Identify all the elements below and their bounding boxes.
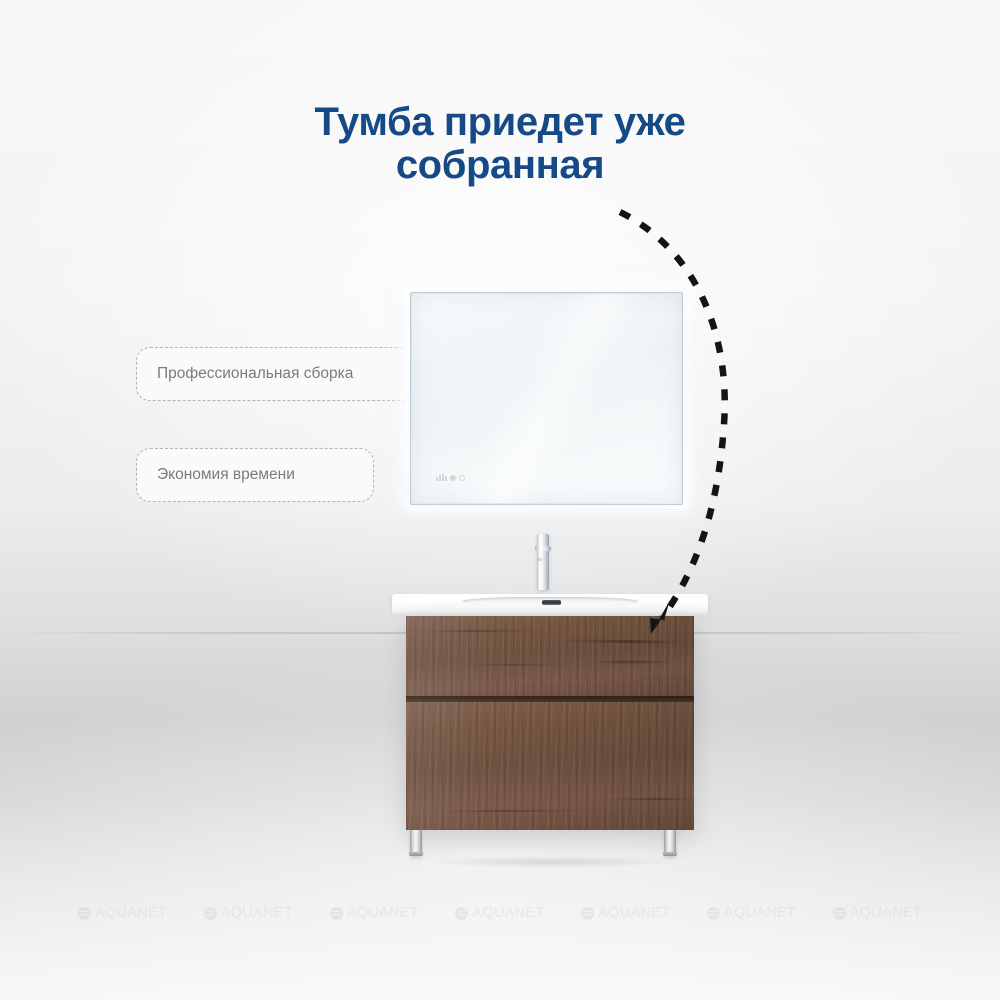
wood-knot — [591, 660, 671, 664]
watermark-aquanet: AQUANET — [78, 905, 167, 921]
drawer-upper — [406, 616, 694, 696]
aquanet-logo-icon — [581, 907, 594, 920]
floor-shadow — [382, 854, 718, 870]
aquanet-logo-icon — [707, 907, 720, 920]
aquanet-logo-icon — [78, 907, 91, 920]
watermark-label: AQUANET — [850, 905, 922, 921]
watermark-label: AQUANET — [472, 905, 544, 921]
wood-grain — [606, 798, 694, 800]
leg-foot — [409, 852, 423, 856]
cabinet-leg-right — [664, 830, 676, 856]
faucet-ring — [537, 558, 549, 561]
watermark-aquanet: AQUANET — [833, 905, 922, 921]
badge-time-saving: Экономия времени — [136, 448, 374, 502]
mirror-touch-controls — [436, 474, 465, 481]
aquanet-logo-icon — [455, 907, 468, 920]
aquanet-logo-icon — [204, 907, 217, 920]
vanity-unit — [392, 586, 708, 862]
basin-drain — [542, 600, 561, 605]
wood-vanity-cabinet — [406, 616, 694, 830]
wood-grain — [436, 809, 586, 812]
signal-bars-icon — [436, 474, 447, 481]
wood-grain — [556, 639, 686, 644]
faucet-body — [537, 534, 549, 590]
led-mirror — [406, 288, 687, 509]
badge-label: Профессиональная сборка — [157, 365, 353, 383]
aquanet-logo-icon — [833, 907, 846, 920]
ceramic-washbasin — [392, 586, 708, 620]
watermark-label: AQUANET — [724, 905, 796, 921]
promo-banner: Тумба приедет уже собранная Профессионал… — [0, 0, 1000, 1000]
watermark-aquanet: AQUANET — [204, 905, 293, 921]
watermark-label: AQUANET — [347, 905, 419, 921]
watermark-label: AQUANET — [221, 905, 293, 921]
watermark-aquanet: AQUANET — [581, 905, 670, 921]
chrome-faucet — [532, 534, 554, 590]
mirror-glass — [412, 294, 681, 503]
aquanet-logo-icon — [330, 907, 343, 920]
watermark-strip: AQUANET AQUANET AQUANET AQUANET AQUANET … — [0, 898, 1000, 928]
faucet-handle — [535, 546, 551, 551]
brightness-dot-icon — [459, 475, 465, 481]
wood-grain — [466, 664, 561, 666]
leg-foot — [663, 852, 677, 856]
watermark-label: AQUANET — [95, 905, 167, 921]
power-dot-icon — [450, 475, 456, 481]
cabinet-leg-left — [410, 830, 422, 856]
drawer-lower — [406, 702, 694, 830]
badge-label: Экономия времени — [157, 466, 295, 484]
watermark-aquanet: AQUANET — [330, 905, 419, 921]
watermark-aquanet: AQUANET — [455, 905, 544, 921]
wood-grain — [424, 629, 544, 632]
page-title: Тумба приедет уже собранная — [0, 101, 1000, 187]
watermark-label: AQUANET — [598, 905, 670, 921]
watermark-aquanet: AQUANET — [707, 905, 796, 921]
